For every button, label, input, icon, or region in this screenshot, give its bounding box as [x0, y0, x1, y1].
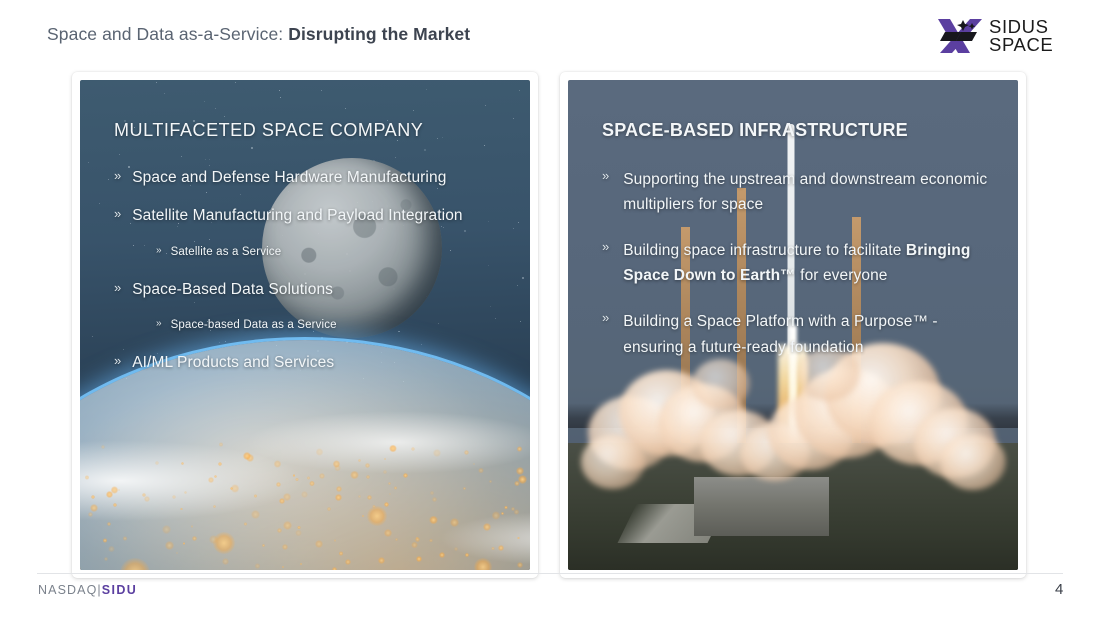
bullet-text: Satellite as a Service [171, 244, 282, 261]
bullet-item: »Building a Space Platform with a Purpos… [602, 309, 988, 359]
footer-exchange: NASDAQ| [38, 583, 102, 597]
bullet-text-span: Building space infrastructure to facilit… [623, 242, 906, 259]
right-panel-heading: SPACE-BASED INFRASTRUCTURE [602, 120, 988, 141]
bullet-text-span: for everyone [796, 267, 888, 284]
page-number: 4 [1055, 581, 1063, 598]
card-space-based-infrastructure[interactable]: SPACE-BASED INFRASTRUCTURE »Supporting t… [560, 72, 1026, 578]
bullet-item: »Building space infrastructure to facili… [602, 238, 988, 288]
bullet-marker-icon: » [156, 244, 162, 259]
footer-ticker: NASDAQ|SIDU [38, 583, 137, 597]
bullet-text: Supporting the upstream and downstream e… [623, 167, 988, 217]
bullet-item: »Satellite Manufacturing and Payload Int… [114, 205, 500, 227]
slide: Space and Data as-a-Service: Disrupting … [0, 0, 1100, 619]
right-bullet-list: »Supporting the upstream and downstream … [602, 167, 988, 360]
bullet-text: Space-based Data as a Service [171, 317, 337, 334]
page-title-regular: Space and Data as-a-Service: [47, 24, 288, 44]
bullet-text: AI/ML Products and Services [132, 352, 334, 374]
bullet-marker-icon: » [114, 279, 121, 298]
bullet-item: »Supporting the upstream and downstream … [602, 167, 988, 217]
bullet-text: Building space infrastructure to facilit… [623, 238, 988, 288]
sub-bullet-item: »Space-based Data as a Service [156, 317, 500, 334]
bullet-item: »AI/ML Products and Services [114, 352, 500, 374]
bullet-text: Building a Space Platform with a Purpose… [623, 309, 988, 359]
logo-wordmark: SIDUS SPACE [989, 18, 1053, 53]
bullet-text: Space and Defense Hardware Manufacturing [132, 167, 446, 189]
right-card-media: SPACE-BASED INFRASTRUCTURE »Supporting t… [568, 80, 1018, 570]
bullet-text-span: Building a Space Platform with a Purpose… [623, 313, 937, 355]
page-title-bold: Disrupting the Market [288, 24, 470, 44]
bullet-text-span: Supporting the upstream and downstream e… [623, 171, 987, 213]
card-multifaceted-space-company[interactable]: MULTIFACETED SPACE COMPANY »Space and De… [72, 72, 538, 578]
bullet-marker-icon: » [602, 309, 609, 328]
sidus-x-mark-icon [936, 15, 982, 57]
bullet-item: »Space and Defense Hardware Manufacturin… [114, 167, 500, 189]
logo-line-2: SPACE [989, 36, 1053, 54]
page-title: Space and Data as-a-Service: Disrupting … [47, 24, 470, 45]
left-panel-overlay: MULTIFACETED SPACE COMPANY »Space and De… [80, 80, 530, 570]
bullet-marker-icon: » [114, 205, 121, 224]
right-panel-overlay: SPACE-BASED INFRASTRUCTURE »Supporting t… [568, 80, 1018, 570]
sub-bullet-item: »Satellite as a Service [156, 244, 500, 261]
footer-symbol: SIDU [102, 583, 137, 597]
bullet-marker-icon: » [602, 167, 609, 186]
left-card-media: MULTIFACETED SPACE COMPANY »Space and De… [80, 80, 530, 570]
bullet-text: Space-Based Data Solutions [132, 279, 333, 301]
left-bullet-list: »Space and Defense Hardware Manufacturin… [114, 167, 500, 374]
left-panel-heading: MULTIFACETED SPACE COMPANY [114, 120, 500, 141]
bullet-item: »Space-Based Data Solutions [114, 279, 500, 301]
bullet-marker-icon: » [114, 352, 121, 371]
bullet-text: Satellite Manufacturing and Payload Inte… [132, 205, 462, 227]
sidus-space-logo: SIDUS SPACE [936, 14, 1068, 58]
slide-header: Space and Data as-a-Service: Disrupting … [0, 0, 1100, 68]
bullet-marker-icon: » [602, 238, 609, 257]
bullet-marker-icon: » [156, 317, 162, 332]
footer-divider [37, 573, 1063, 574]
bullet-marker-icon: » [114, 167, 121, 186]
